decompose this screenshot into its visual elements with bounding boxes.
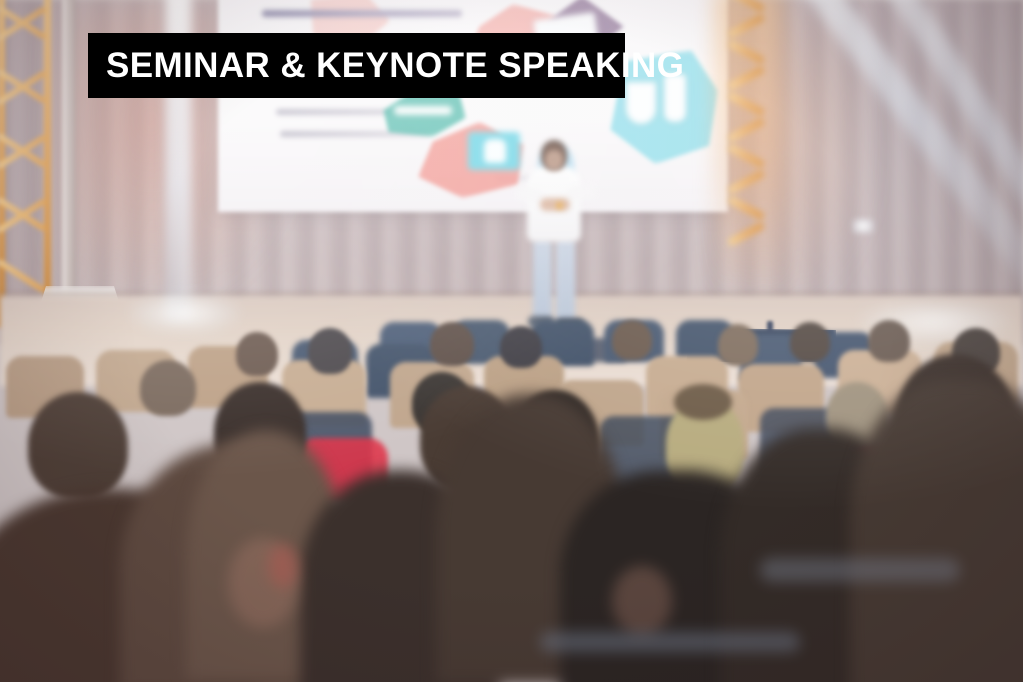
truss-brace	[0, 258, 47, 294]
audience-area	[0, 320, 1023, 682]
audience-ear	[268, 544, 298, 588]
audience-head	[868, 320, 910, 362]
truss-brace	[726, 65, 765, 91]
speaker-face	[545, 150, 563, 170]
flask-icon	[626, 82, 656, 124]
truss-brace	[726, 143, 765, 169]
speaker-leg-right	[556, 238, 575, 323]
audience-collar	[540, 632, 800, 652]
audience-head	[28, 392, 128, 498]
speaker-microphone	[556, 202, 563, 209]
truss-brace	[726, 117, 765, 143]
audience-skin-highlight	[612, 566, 672, 636]
audience-head	[140, 360, 196, 416]
audience-head	[718, 324, 758, 366]
audience-hair-bun	[674, 384, 732, 420]
truss-brace	[726, 0, 765, 13]
speaker-hands	[540, 198, 570, 211]
audience-collar	[760, 558, 960, 582]
projection-screen: ?	[218, 0, 728, 212]
truss-vertical-pole	[62, 0, 75, 316]
audience-foreground-silhouette	[850, 380, 1023, 682]
truss-brace	[726, 39, 765, 65]
seminar-photo-scene: ?	[0, 0, 1023, 682]
light-source-point	[852, 218, 874, 234]
lighting-truss-left	[0, 0, 68, 328]
title-banner: SEMINAR & KEYNOTE SPEAKING	[88, 33, 625, 98]
banner-title-text: SEMINAR & KEYNOTE SPEAKING	[106, 48, 684, 83]
audience-head	[308, 328, 352, 374]
audience-head	[430, 322, 474, 366]
truss-brace	[726, 221, 765, 247]
presentation-card-inner	[484, 139, 506, 163]
audience-head	[236, 332, 278, 376]
audience-head	[612, 320, 652, 360]
slide-title-line	[262, 10, 462, 17]
truss-brace	[726, 91, 765, 117]
audience-head	[790, 322, 830, 362]
speaker-leg-left	[533, 238, 552, 323]
truss-brace	[726, 169, 765, 195]
teal-blob-stripe	[394, 106, 452, 115]
lighting-truss-right	[726, 0, 770, 290]
truss-brace	[726, 195, 765, 221]
audience-head	[500, 326, 542, 368]
truss-brace	[726, 13, 765, 39]
